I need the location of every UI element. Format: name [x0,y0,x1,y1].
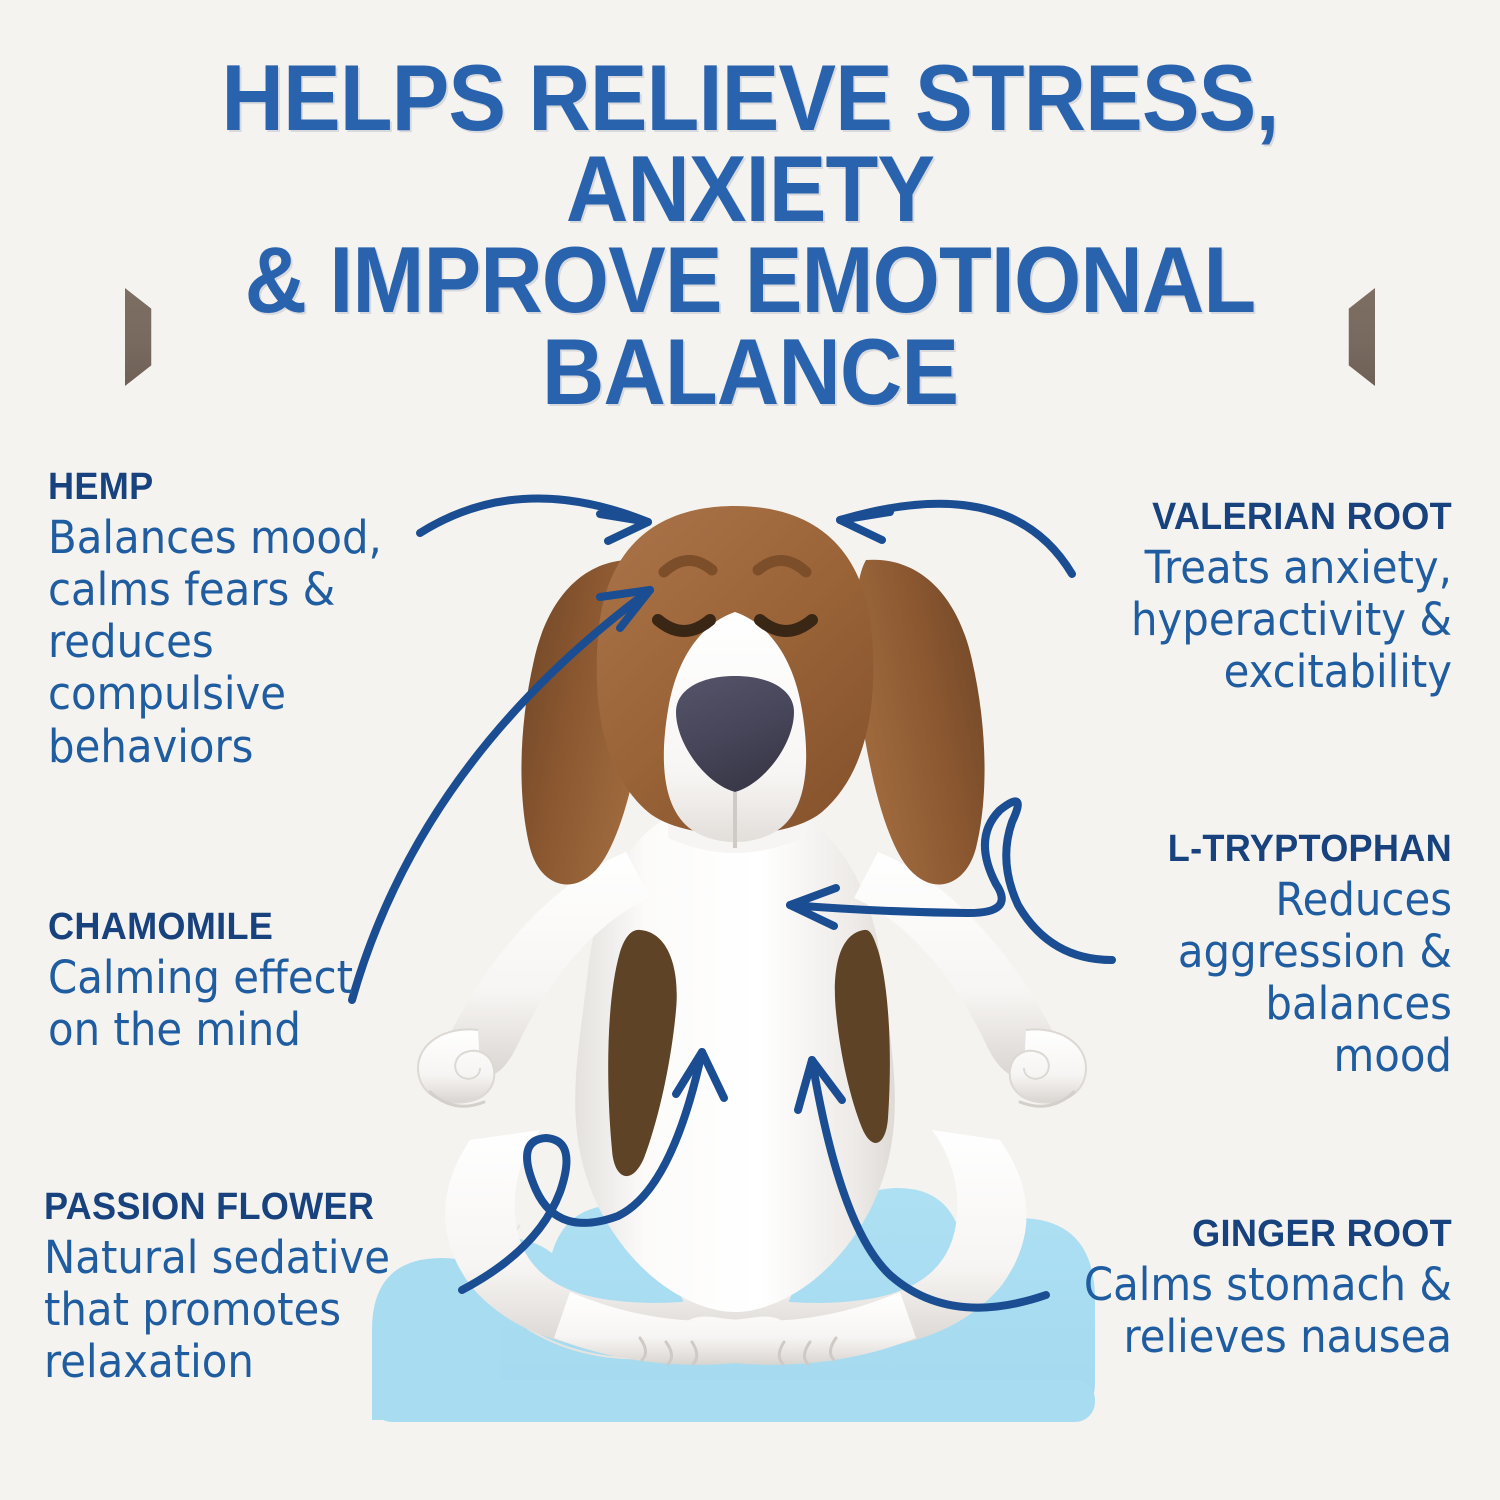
callout-valerian-root: VALERIAN ROOT Treats anxiety, hyperactiv… [1022,498,1452,698]
callout-hemp-title: HEMP [48,468,457,508]
dog-eye-left [658,620,710,631]
callout-chamomile-title: CHAMOMILE [48,908,457,948]
dog-foot-left [554,1292,792,1365]
dog-ear-right [855,560,985,885]
callout-l-tryptophan: L-TRYPTOPHAN Reduces aggression & balanc… [1052,830,1452,1083]
dog-brow-left [664,560,712,572]
callout-valerian-root-body: Treats anxiety, hyperactivity & excitabi… [1052,542,1452,699]
dog-leg-left [445,1130,800,1350]
dog-brow-right [758,560,806,572]
callout-passion-flower: PASSION FLOWER Natural sedative that pro… [44,1188,494,1388]
dog-ear-left [521,560,651,885]
callout-hemp-body: Balances mood, calms fears & reduces com… [48,512,448,773]
callout-chamomile: CHAMOMILE Calming effect on the mind [48,908,478,1056]
callout-valerian-root-title: VALERIAN ROOT [1044,498,1453,538]
callout-chamomile-body: Calming effect on the mind [48,952,448,1056]
callout-ginger-root-body: Calms stomach & relieves nausea [1043,1259,1452,1363]
dog-patch-right [835,930,890,1143]
callout-ginger-root-title: GINGER ROOT [1034,1215,1452,1255]
dog-torso [575,800,895,1312]
callout-passion-flower-title: PASSION FLOWER [44,1188,472,1228]
callout-passion-flower-body: Natural sedative that promotes relaxatio… [44,1232,463,1389]
passion-flower-arrow [462,1052,724,1290]
page-title: HELPS RELIEVE STRESS, ANXIETY & IMPROVE … [60,52,1440,417]
dog-nose [676,676,794,792]
dog-head [597,506,874,835]
callout-l-tryptophan-title: L-TRYPTOPHAN [1072,830,1452,870]
callout-hemp: HEMP Balances mood, calms fears & reduce… [48,468,478,773]
dog-patch-left [608,930,677,1176]
dog-foot-right [678,1292,916,1365]
dog-muzzle [664,612,806,842]
dog-leg-right [672,1130,1027,1350]
callout-l-tryptophan-body: Reduces aggression & balances mood [1080,874,1452,1083]
dog-figure [418,506,1086,1365]
ginger-root-arrow [798,1060,1046,1308]
infographic-canvas: HELPS RELIEVE STRESS, ANXIETY & IMPROVE … [0,0,1500,1500]
dog-arm-right [854,852,1057,1078]
dog-eye-right [760,620,812,631]
callout-ginger-root: GINGER ROOT Calms stomach & relieves nau… [1012,1215,1452,1363]
